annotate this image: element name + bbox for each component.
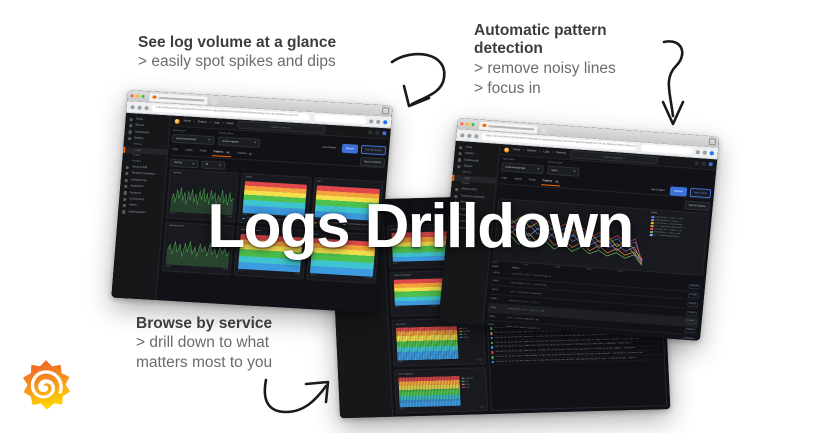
maximize-icon[interactable]	[141, 95, 145, 99]
tab-fields[interactable]: Fields	[527, 177, 537, 184]
bell-icon	[455, 188, 458, 191]
curved-arrow-down-icon	[648, 32, 706, 130]
panel-span-event-count[interactable]: span_event_count 10:2010:35	[234, 226, 307, 280]
help-icon	[368, 130, 372, 134]
dashboard-icon	[129, 130, 132, 133]
traffic-lights[interactable]	[460, 122, 474, 126]
breadcrumb[interactable]: Home› Explore› Logs› Fields	[184, 120, 234, 126]
app-icon	[453, 207, 456, 210]
annotation-title: See log volume at a glance	[138, 34, 336, 52]
shield-icon	[122, 210, 125, 213]
annotation-line: > remove noisy lines	[474, 59, 616, 79]
datasource-select[interactable]: Data source grafanacloud-logs	[501, 158, 544, 174]
stacked-area-chart	[242, 181, 307, 217]
plug-icon	[123, 198, 126, 201]
extensions-icon	[696, 150, 700, 154]
stacked-area-chart	[310, 238, 375, 277]
flask-icon	[454, 194, 457, 197]
panel-detected-level[interactable]: detected_level 10:2010:35	[162, 221, 235, 275]
profile-icon	[710, 151, 714, 155]
close-icon[interactable]	[130, 94, 134, 98]
app-icon	[124, 185, 127, 188]
extensions-icon	[369, 119, 373, 123]
toolbar-2[interactable]: Live Content Refresh Last 3 hours	[648, 185, 712, 198]
browser-toolbar-icons[interactable]	[369, 119, 387, 124]
news-icon	[375, 131, 379, 135]
time-range-picker[interactable]: Last 3 hours	[689, 188, 711, 198]
compass-icon	[457, 165, 460, 168]
maximize-icon[interactable]	[471, 123, 475, 127]
refresh-button[interactable]: Refresh	[670, 186, 687, 196]
back-icon[interactable]	[131, 105, 135, 109]
tab-labels[interactable]: Labels	[513, 176, 523, 183]
server-icon	[454, 201, 457, 204]
forward-icon[interactable]	[137, 105, 141, 109]
sidebar-item-administration[interactable]: Administration	[118, 208, 162, 217]
panel-legend: unknown info warn error	[461, 377, 484, 405]
new-tab-button[interactable]	[541, 127, 548, 133]
annotation-title: Browse by service	[136, 315, 272, 333]
flask-icon	[125, 172, 128, 175]
panel-legend: error warning info debug	[459, 327, 482, 359]
plug-icon	[452, 220, 455, 223]
filter-select[interactable]: All	[201, 160, 226, 169]
curved-arrow-down-left-icon	[382, 34, 464, 116]
stacked-area-chart	[396, 326, 459, 360]
annotation-line: > drill down to what	[136, 333, 272, 353]
bookmark-icon	[703, 150, 707, 154]
panel-grid-1: $system 10:2010:35 cluster 10:201	[162, 168, 384, 283]
browser-icon	[124, 191, 127, 194]
multi-series-line-chart	[496, 202, 649, 268]
traffic-lights[interactable]	[130, 94, 144, 98]
toolbar-1[interactable]: Live Content Refresh Last 30 minutes	[319, 142, 386, 155]
omnibox-extra[interactable]	[314, 114, 366, 124]
topbar-actions[interactable]	[368, 130, 386, 135]
line-chart	[166, 229, 231, 268]
promo-banner: Alerts & IRM Testing & synthetics Infras…	[0, 0, 840, 433]
annotation-pattern-detection: Automatic pattern detection > remove noi…	[474, 22, 616, 99]
forward-icon[interactable]	[467, 133, 471, 137]
favicon-grafana-icon	[153, 95, 157, 99]
reload-icon[interactable]	[144, 106, 148, 110]
panel-system[interactable]: $system 10:2010:35	[166, 168, 239, 222]
chart-legend[interactable]: Name level=info ts=<_> caller=<_> msg le…	[646, 212, 705, 272]
profile-icon	[383, 120, 387, 124]
tab-explore[interactable]: Explore4	[236, 151, 254, 159]
open-in-explore-button[interactable]: Open in Explore	[684, 200, 710, 211]
wrench-icon	[123, 204, 126, 207]
tab-fields[interactable]: Fields	[198, 148, 207, 155]
new-tab-button[interactable]	[211, 97, 217, 103]
datasource-select[interactable]: Data source grafanacloud-logs	[172, 130, 215, 145]
sort-select[interactable]: Sort by	[170, 158, 199, 168]
grafana-logo-icon[interactable]	[504, 147, 509, 152]
grafana-logo-icon	[18, 358, 74, 414]
service-select[interactable]: service_name tempo-ingester	[218, 132, 261, 147]
panel-cluster[interactable]: cluster 10:2010:35 prod-eu-west-2 namesp…	[238, 173, 311, 227]
star-icon	[129, 124, 132, 127]
stacked-area-chart	[398, 376, 460, 407]
annotation-line: matters most to you	[136, 353, 272, 373]
avatar	[709, 162, 713, 166]
compass-icon	[128, 137, 131, 140]
avatar	[382, 131, 386, 135]
annotation-log-volume: See log volume at a glance > easily spot…	[138, 34, 336, 72]
annotation-title: Automatic pattern	[474, 22, 616, 40]
annotation-browse-by-service: Browse by service > drill down to what m…	[136, 315, 272, 374]
back-icon[interactable]	[460, 133, 464, 137]
star-icon	[458, 152, 461, 155]
browser-toolbar-icons[interactable]	[696, 150, 714, 155]
help-icon	[695, 161, 699, 165]
shield-icon	[451, 226, 454, 229]
tab-patterns[interactable]: Patterns 38	[541, 178, 561, 187]
service-panel[interactable]: mimir-ingester unknown info warn error 1…	[394, 367, 488, 413]
news-icon	[702, 162, 706, 166]
tab-labels[interactable]: Labels	[184, 147, 194, 154]
topbar-actions[interactable]	[695, 161, 713, 166]
minimize-icon[interactable]	[136, 94, 140, 98]
stacked-area-chart	[238, 234, 303, 273]
bell-icon	[126, 166, 129, 169]
time-range-picker[interactable]: Last 30 minutes	[361, 145, 387, 155]
home-icon	[459, 146, 462, 149]
annotation-line: > focus in	[474, 79, 616, 99]
panel-pod[interactable]: pod 10:2010:35 tempo-distributor-6d9f4c …	[310, 177, 383, 231]
annotation-line: > easily spot spikes and dips	[138, 52, 336, 72]
home-icon	[130, 118, 133, 121]
tab-logs[interactable]: Logs	[171, 147, 179, 154]
dashboard-icon	[458, 158, 461, 161]
server-icon	[125, 179, 128, 182]
close-icon[interactable]	[460, 122, 464, 126]
browser-window-log-volume[interactable]: https://play.grafana.org/a/grafana-lokie…	[111, 90, 392, 313]
open-in-explore-button[interactable]: Open in Explore	[360, 157, 386, 167]
line-chart	[170, 176, 235, 215]
browser-window-patterns[interactable]: https://play.grafana.org/a/grafana-lokie…	[438, 118, 719, 341]
window-controls[interactable]	[709, 138, 717, 145]
grafana-logo-icon[interactable]	[174, 118, 179, 123]
curved-arrow-up-right-icon	[252, 372, 336, 428]
browser-tab[interactable]	[149, 93, 208, 104]
tab-patterns[interactable]: Patterns38	[212, 149, 232, 158]
minimize-icon[interactable]	[466, 122, 470, 126]
stacked-area-chart	[315, 185, 380, 221]
favicon-grafana-icon	[482, 124, 486, 128]
annotation-title-2: detection	[474, 40, 616, 58]
panel-msg[interactable]: msg 10:2010:35	[306, 230, 379, 284]
breadcrumb[interactable]: Home› Explore› Logs› Patterns	[513, 149, 566, 155]
browser-icon	[453, 214, 456, 217]
service-select[interactable]: service_name nginx	[547, 162, 580, 177]
reload-icon[interactable]	[474, 134, 478, 138]
bookmark-icon	[376, 119, 380, 123]
tab-logs[interactable]: Logs	[500, 175, 508, 182]
omnibox-extra[interactable]	[641, 144, 694, 155]
refresh-button[interactable]: Refresh	[341, 144, 358, 154]
service-panel[interactable]: nginx-json error warning info debug 10:2…	[392, 317, 486, 367]
